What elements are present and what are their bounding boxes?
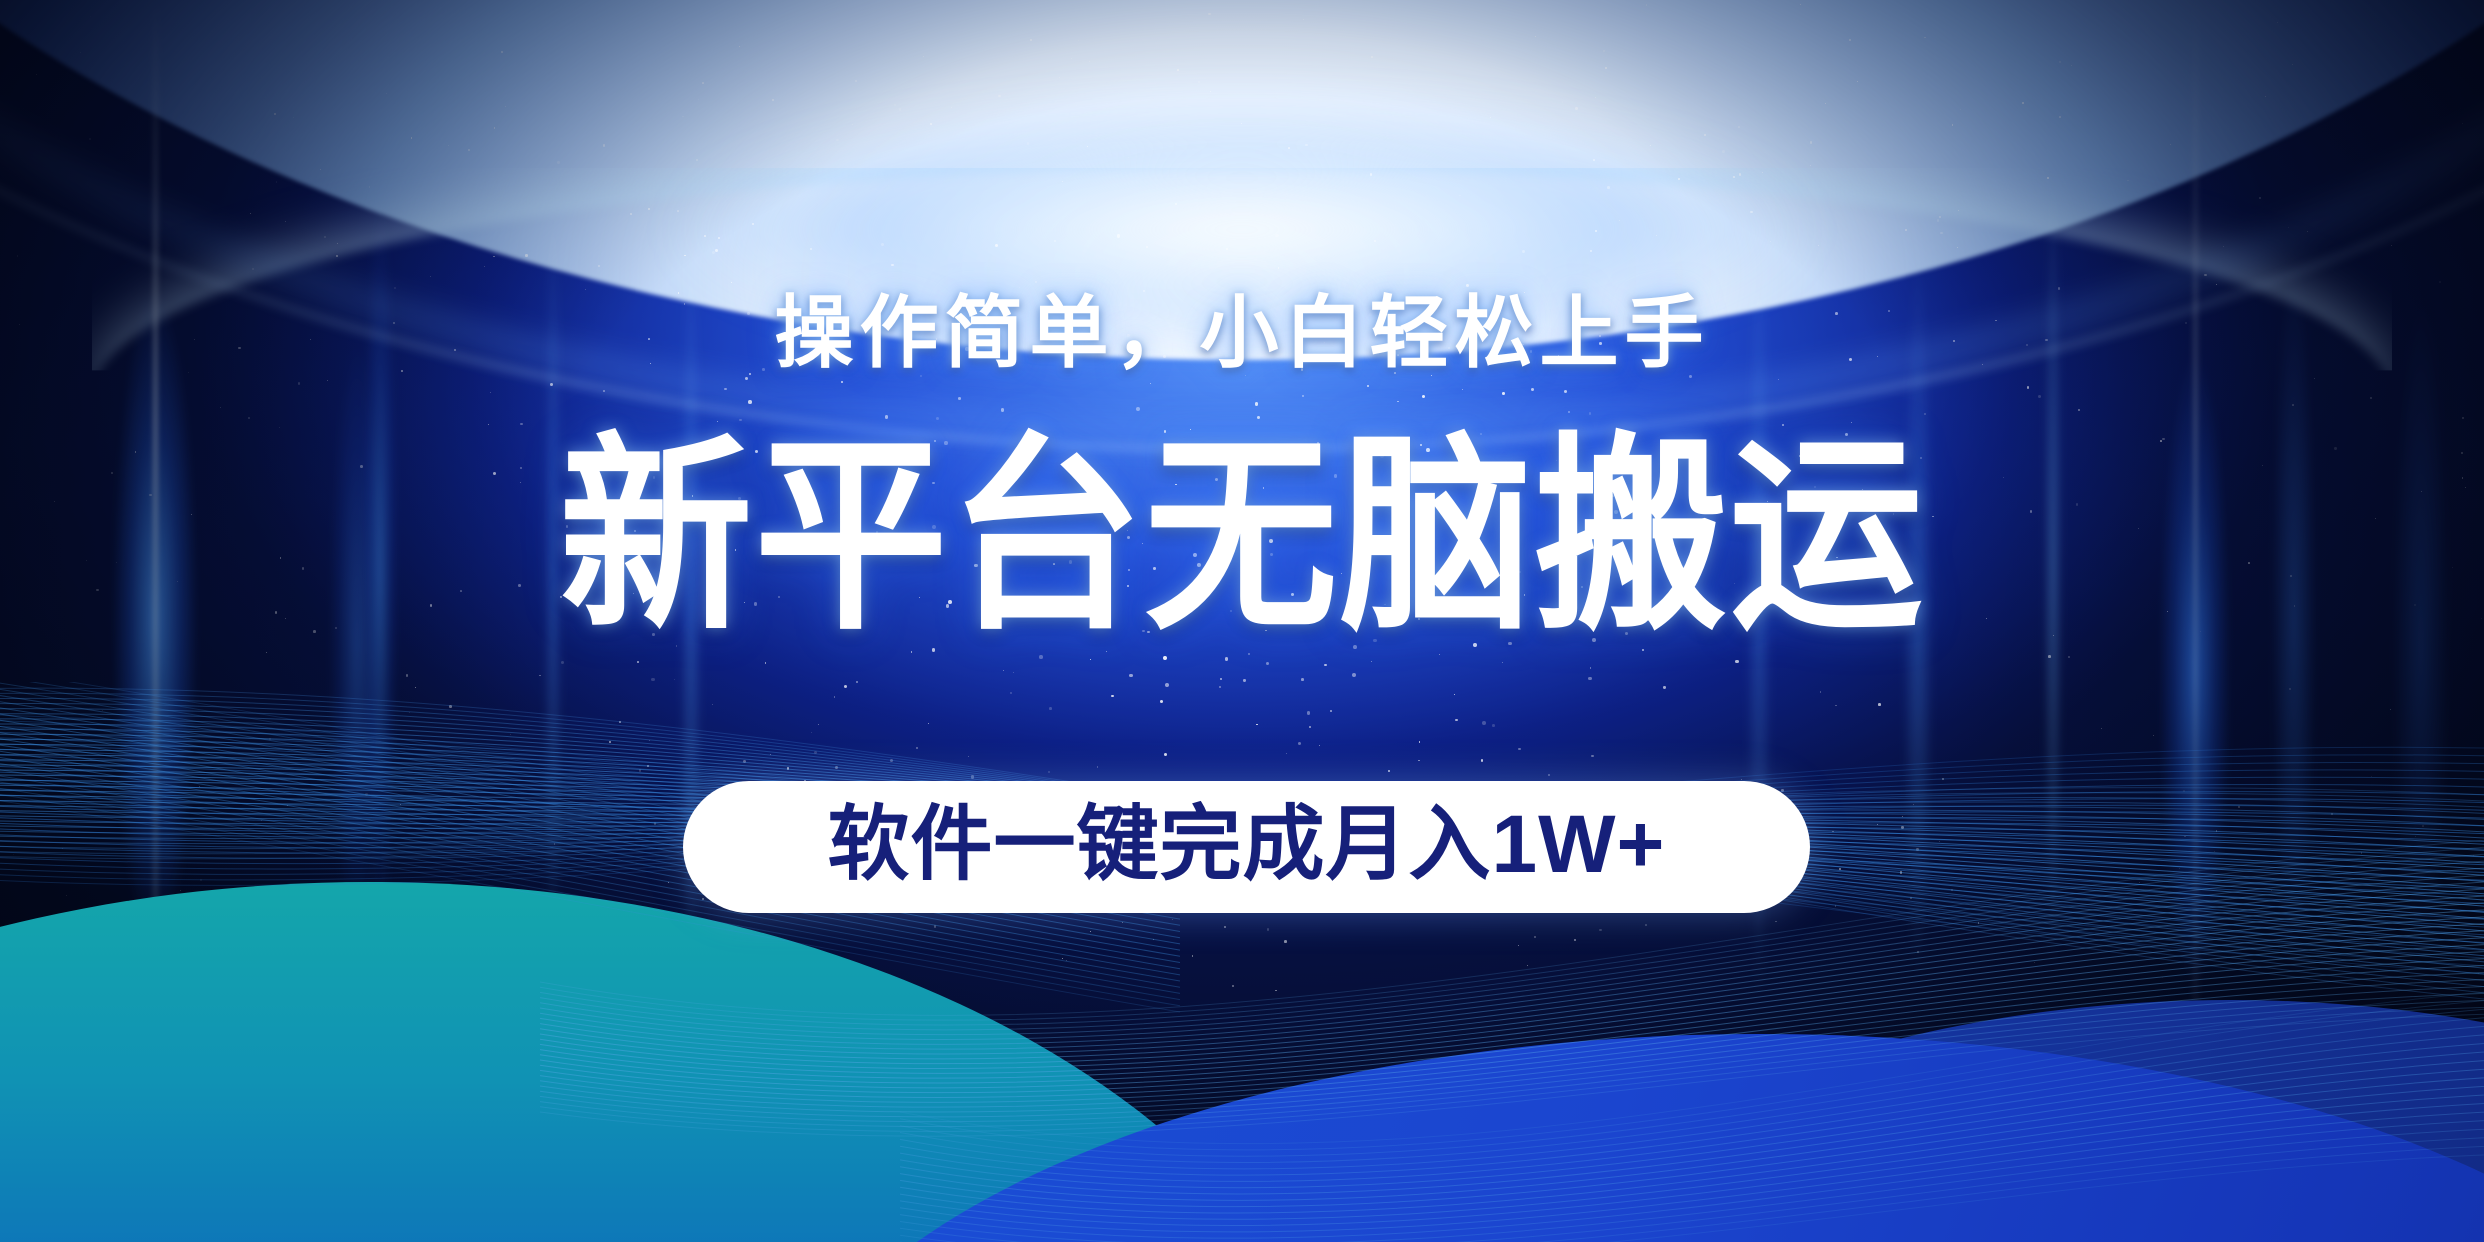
cta-pill-label: 软件一键完成月入1W+ xyxy=(828,804,1666,886)
subtitle-text: 操作简单，小白轻松上手 xyxy=(0,293,2484,372)
wave-mesh-lines xyxy=(0,682,2484,1242)
poster-canvas: 操作简单，小白轻松上手 新平台无脑搬运 软件一键完成月入1W+ xyxy=(0,0,2484,1242)
cta-pill[interactable]: 软件一键完成月入1W+ xyxy=(683,781,1810,913)
headline-text: 新平台无脑搬运 xyxy=(99,432,2384,642)
